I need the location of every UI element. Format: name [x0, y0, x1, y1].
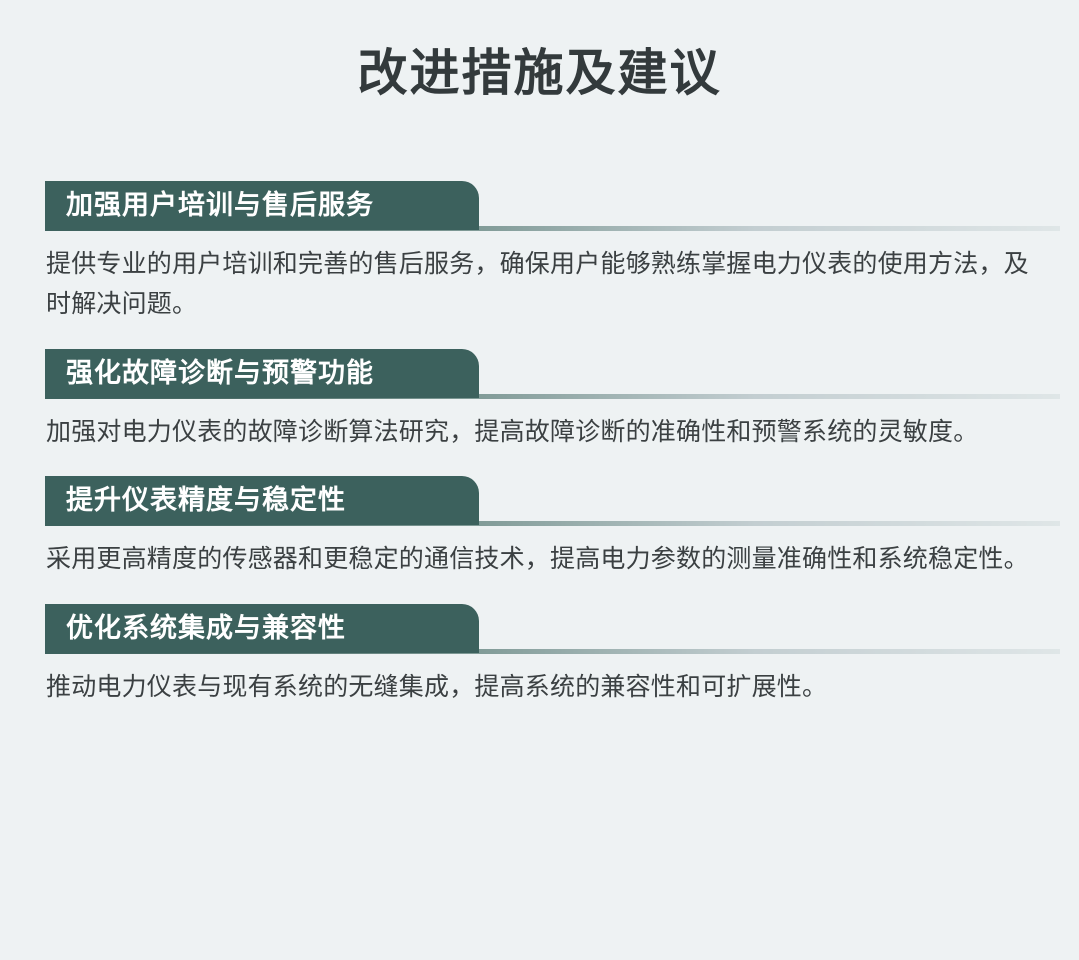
- section-body-3: 采用更高精度的传感器和更稳定的通信技术，提高电力参数的测量准确性和系统稳定性。: [46, 539, 1034, 580]
- section-body-4: 推动电力仪表与现有系统的无缝集成，提高系统的兼容性和可扩展性。: [46, 667, 1034, 708]
- section-badge-2: 强化故障诊断与预警功能: [45, 349, 479, 398]
- section-badge-4: 优化系统集成与兼容性: [45, 604, 479, 653]
- section-header-3: 提升仪表精度与稳定性: [0, 476, 1079, 525]
- section-badge-1: 加强用户培训与售后服务: [45, 181, 479, 230]
- section-heading-2: 强化故障诊断与预警功能: [66, 360, 374, 387]
- page-title: 改进措施及建议: [0, 0, 1079, 105]
- section-heading-3: 提升仪表精度与稳定性: [66, 487, 346, 514]
- section-header-4: 优化系统集成与兼容性: [0, 604, 1079, 653]
- recommendation-item-2: 强化故障诊断与预警功能 加强对电力仪表的故障诊断算法研究，提高故障诊断的准确性和…: [0, 349, 1079, 453]
- section-heading-1: 加强用户培训与售后服务: [66, 192, 374, 219]
- recommendation-item-4: 优化系统集成与兼容性 推动电力仪表与现有系统的无缝集成，提高系统的兼容性和可扩展…: [0, 604, 1079, 708]
- section-heading-4: 优化系统集成与兼容性: [66, 615, 346, 642]
- section-header-2: 强化故障诊断与预警功能: [0, 349, 1079, 398]
- section-body-2: 加强对电力仪表的故障诊断算法研究，提高故障诊断的准确性和预警系统的灵敏度。: [46, 412, 1034, 453]
- slide-root: 改进措施及建议 加强用户培训与售后服务 提供专业的用户培训和完善的售后服务，确保…: [0, 0, 1079, 960]
- recommendation-item-1: 加强用户培训与售后服务 提供专业的用户培训和完善的售后服务，确保用户能够熟练掌握…: [0, 181, 1079, 325]
- section-body-1: 提供专业的用户培训和完善的售后服务，确保用户能够熟练掌握电力仪表的使用方法，及时…: [46, 244, 1034, 325]
- recommendation-list: 加强用户培训与售后服务 提供专业的用户培训和完善的售后服务，确保用户能够熟练掌握…: [0, 181, 1079, 708]
- section-header-1: 加强用户培训与售后服务: [0, 181, 1079, 230]
- recommendation-item-3: 提升仪表精度与稳定性 采用更高精度的传感器和更稳定的通信技术，提高电力参数的测量…: [0, 476, 1079, 580]
- section-badge-3: 提升仪表精度与稳定性: [45, 476, 479, 525]
